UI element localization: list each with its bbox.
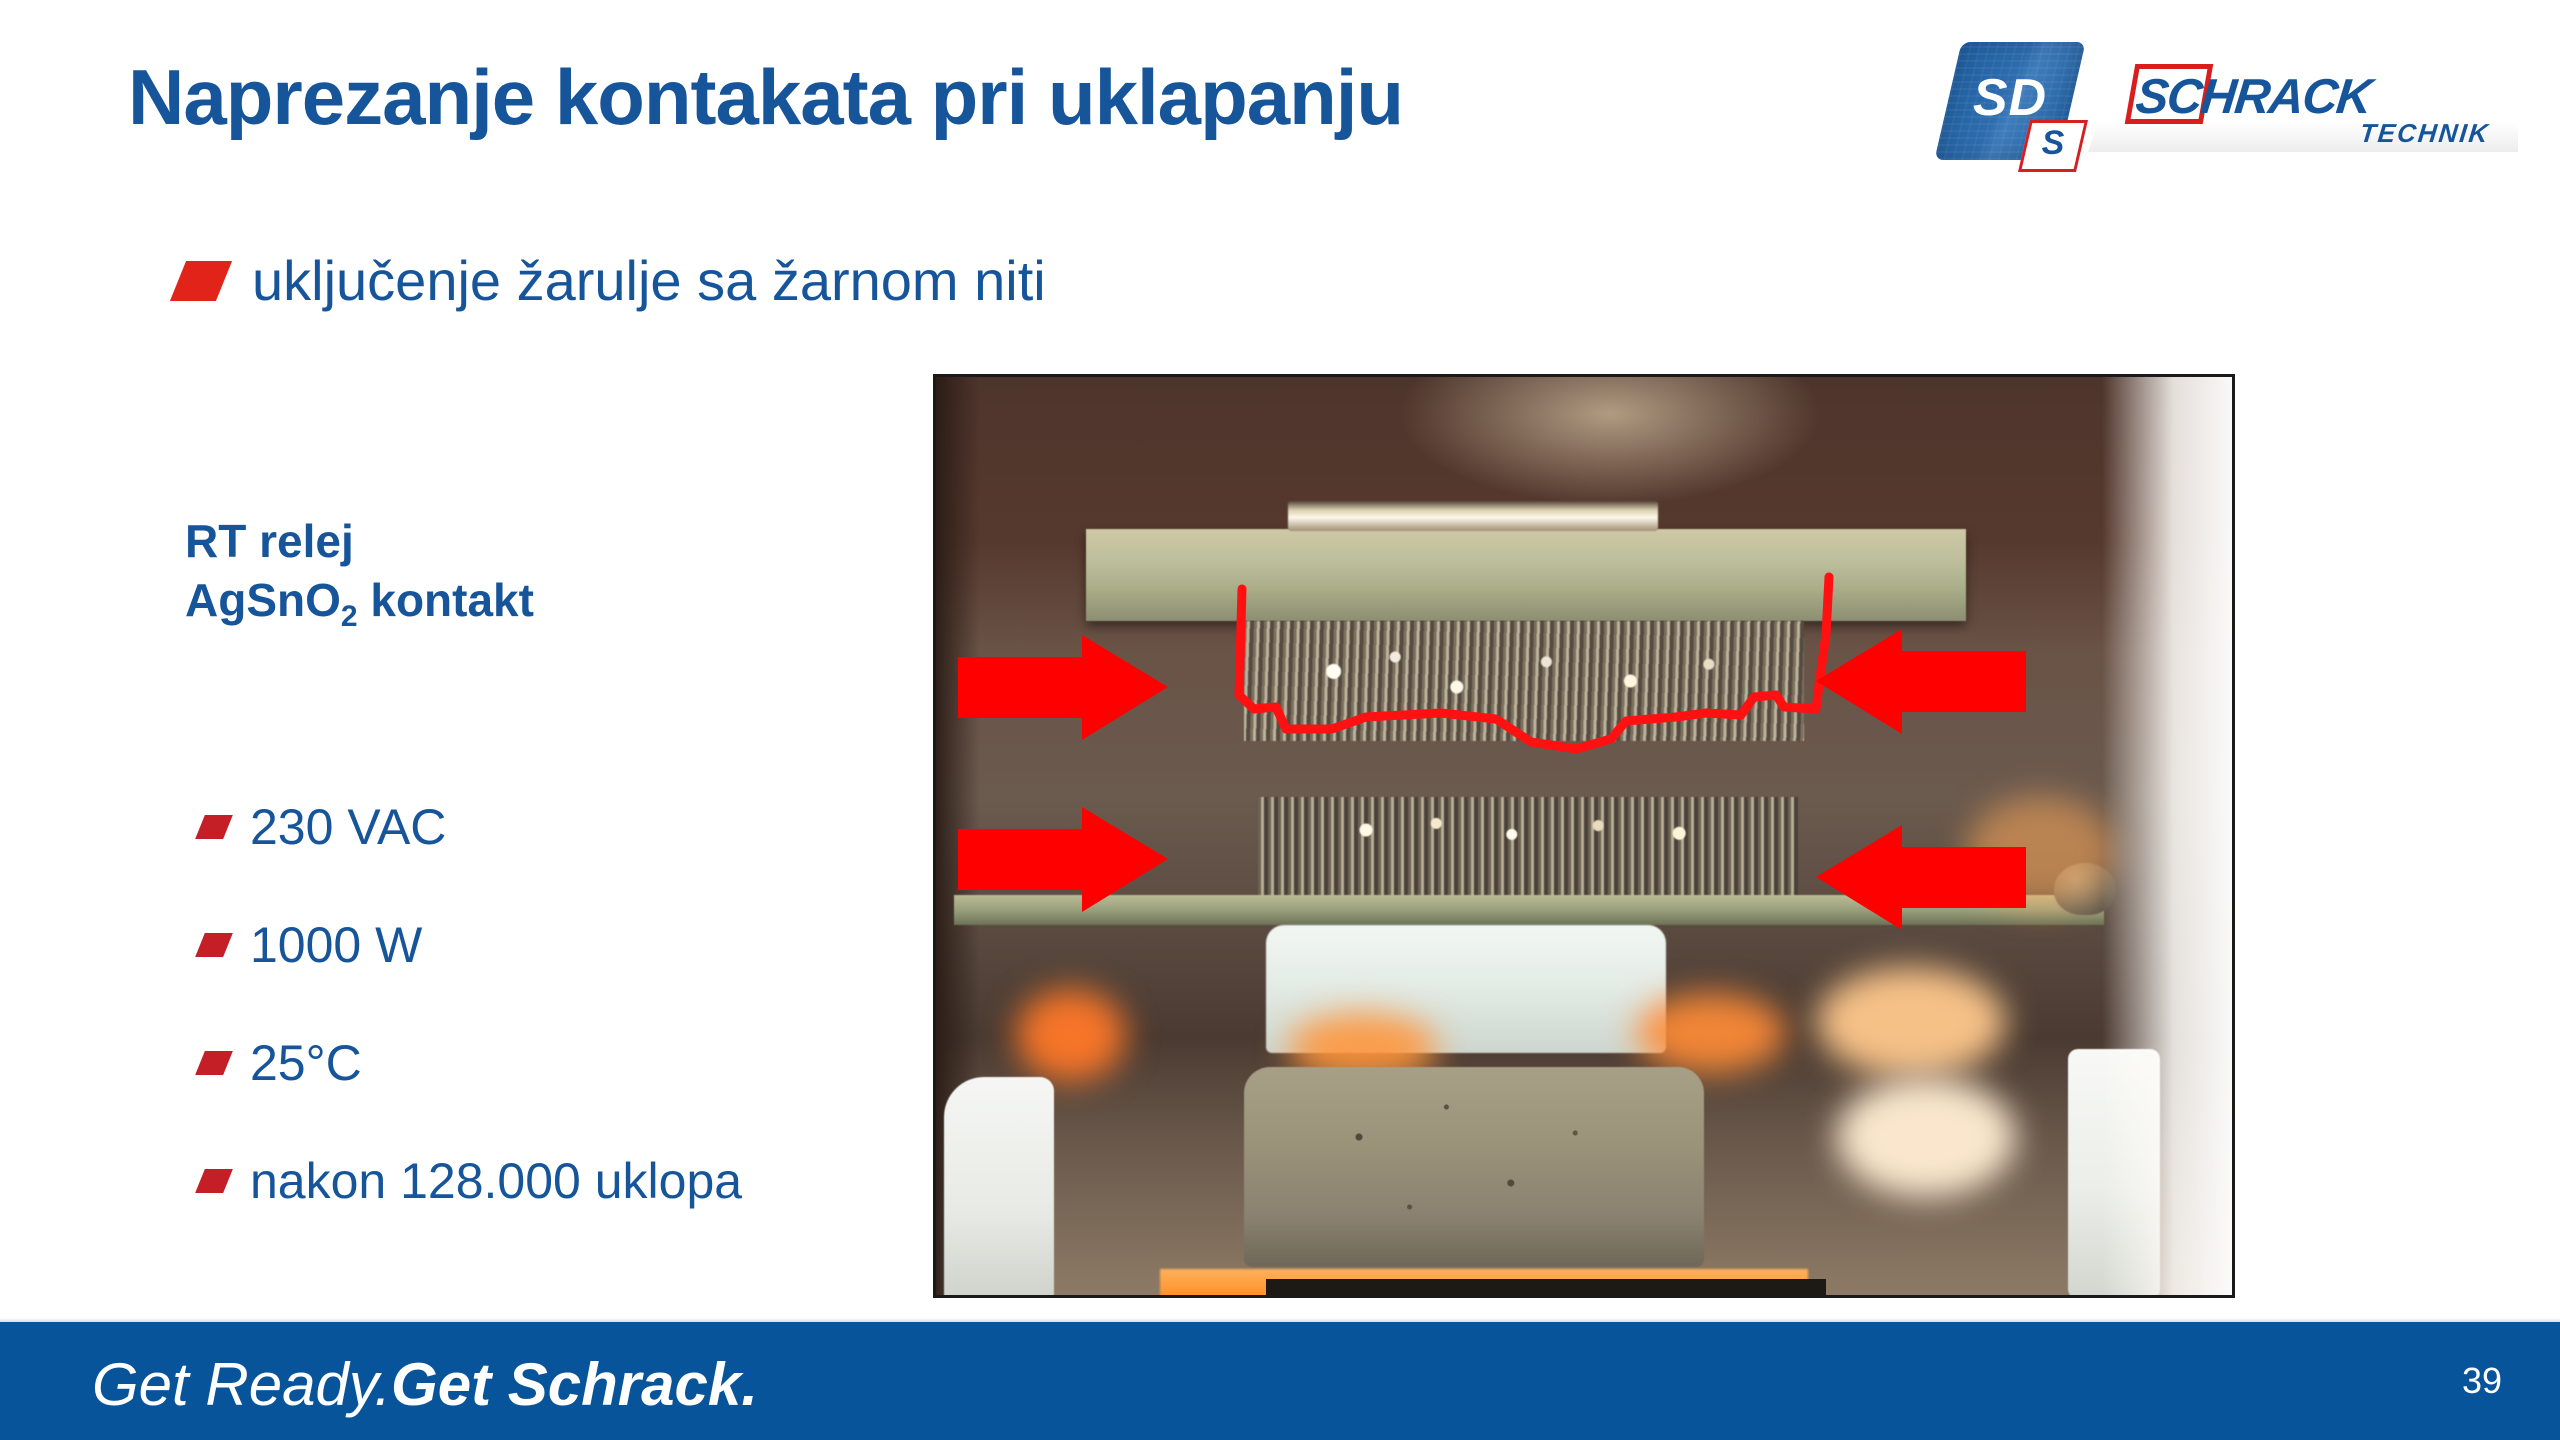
bullet-parallelogram-icon	[195, 1169, 233, 1193]
schrack-technik-label: TECHNIK	[2359, 118, 2492, 149]
tagline-light: Get Ready.	[92, 1351, 391, 1418]
list-item: nakon 128.000 uklopa	[200, 1122, 820, 1240]
page-number: 39	[2462, 1360, 2502, 1402]
sds-label: SD	[1948, 68, 2072, 128]
spec-heading-line2-prefix: AgSnO	[185, 574, 341, 626]
bullet-parallelogram-icon	[170, 261, 232, 301]
arrow-right-lower-icon	[1816, 825, 2026, 930]
spec-heading-line2: AgSnO2 kontakt	[185, 571, 534, 630]
spec-heading-line2-suffix: kontakt	[358, 574, 534, 626]
bullet-parallelogram-icon	[195, 815, 233, 839]
contact-microscope-photo	[933, 374, 2235, 1298]
spec-heading-line2-subscript: 2	[341, 600, 358, 633]
spec-list: 230 VAC 1000 W 25°C nakon 128.000 uklopa	[200, 768, 820, 1240]
sds-subscript-label: S	[2024, 124, 2082, 163]
brand-logo-group: SD S SCHRACK TECHNIK	[1948, 38, 2518, 166]
spec-item-label: 230 VAC	[250, 798, 446, 856]
schrack-logo-plate: SCHRACK TECHNIK	[2088, 52, 2518, 152]
list-item: 1000 W	[200, 886, 820, 1004]
spec-item-label: 25°C	[250, 1034, 362, 1092]
page-title: Naprezanje kontakata pri uklapanju	[128, 52, 1403, 143]
bullet-parallelogram-icon	[195, 1051, 233, 1075]
arrow-left-lower-icon	[958, 807, 1168, 912]
list-item: 25°C	[200, 1004, 820, 1122]
sds-subscript-badge: S	[2024, 120, 2082, 172]
spec-heading: RT relej AgSnO2 kontakt	[185, 512, 534, 630]
spec-heading-line1: RT relej	[185, 512, 534, 571]
arrow-left-upper-icon	[958, 635, 1168, 740]
spec-item-label: 1000 W	[250, 916, 422, 974]
bullet-parallelogram-icon	[195, 933, 233, 957]
schrack-wordmark: SCHRACK	[2133, 69, 2373, 125]
footer-bar: Get Ready.Get Schrack. 39	[0, 1322, 2560, 1440]
tagline-bold: Get Schrack.	[391, 1351, 758, 1418]
list-item: 230 VAC	[200, 768, 820, 886]
arrow-right-upper-icon	[1816, 629, 2026, 734]
subtitle-text: uključenje žarulje sa žarnom niti	[252, 248, 1046, 313]
subtitle-row: uključenje žarulje sa žarnom niti	[178, 248, 1046, 313]
photo-canvas	[936, 377, 2232, 1295]
spec-item-label: nakon 128.000 uklopa	[250, 1152, 742, 1210]
footer-tagline: Get Ready.Get Schrack.	[92, 1350, 758, 1419]
